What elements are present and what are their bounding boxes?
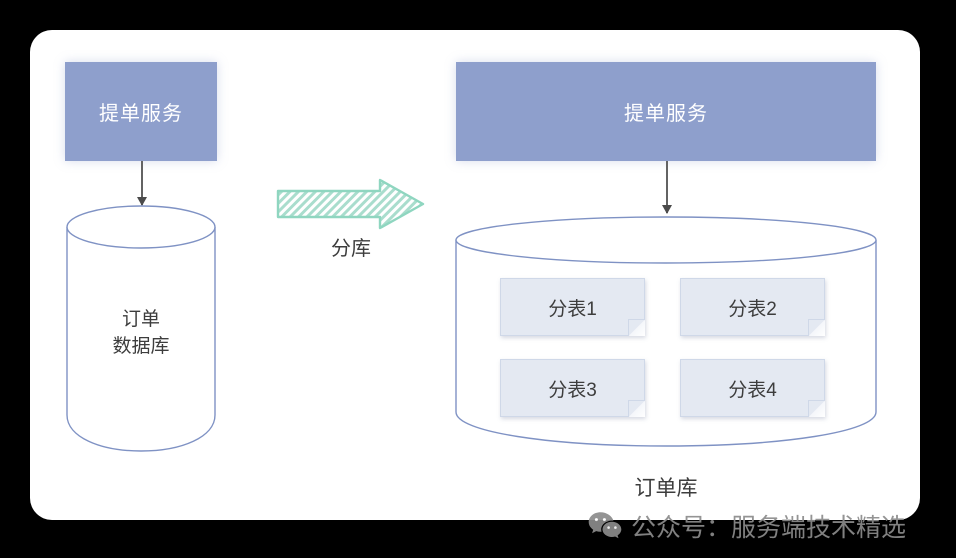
service-box-right-label: 提单服务: [624, 97, 708, 126]
shard-table-box: 分表1: [500, 278, 645, 336]
shard-table-label: 分表3: [548, 375, 597, 402]
sharding-flow-label: 分库: [276, 232, 426, 261]
service-box-left: 提单服务: [65, 62, 217, 161]
database-right-caption: 订单库: [455, 472, 877, 502]
service-box-right: 提单服务: [456, 62, 876, 161]
diagram-canvas: 提单服务 订单 数据库 分库 提单服务: [0, 0, 956, 558]
shard-table-box: 分表2: [680, 278, 825, 336]
watermark-text: 公众号：服务端技术精选: [631, 508, 906, 544]
shard-table-label: 分表1: [548, 294, 597, 321]
folded-corner-icon: [808, 400, 825, 417]
sharding-flow-arrow-icon: [276, 178, 426, 230]
folded-corner-icon: [808, 319, 825, 336]
folded-corner-icon: [628, 319, 645, 336]
shard-table-label: 分表2: [728, 294, 777, 321]
cylinder-shape: [66, 205, 216, 453]
shard-table-box: 分表4: [680, 359, 825, 417]
database-cylinder-left: 订单 数据库: [66, 205, 216, 453]
watermark: 公众号：服务端技术精选: [588, 506, 906, 546]
shard-table-box: 分表3: [500, 359, 645, 417]
wechat-icon: [588, 511, 622, 541]
service-box-left-label: 提单服务: [99, 97, 183, 126]
folded-corner-icon: [628, 400, 645, 417]
shard-table-label: 分表4: [728, 375, 777, 402]
arrowhead-icon: [662, 205, 672, 214]
